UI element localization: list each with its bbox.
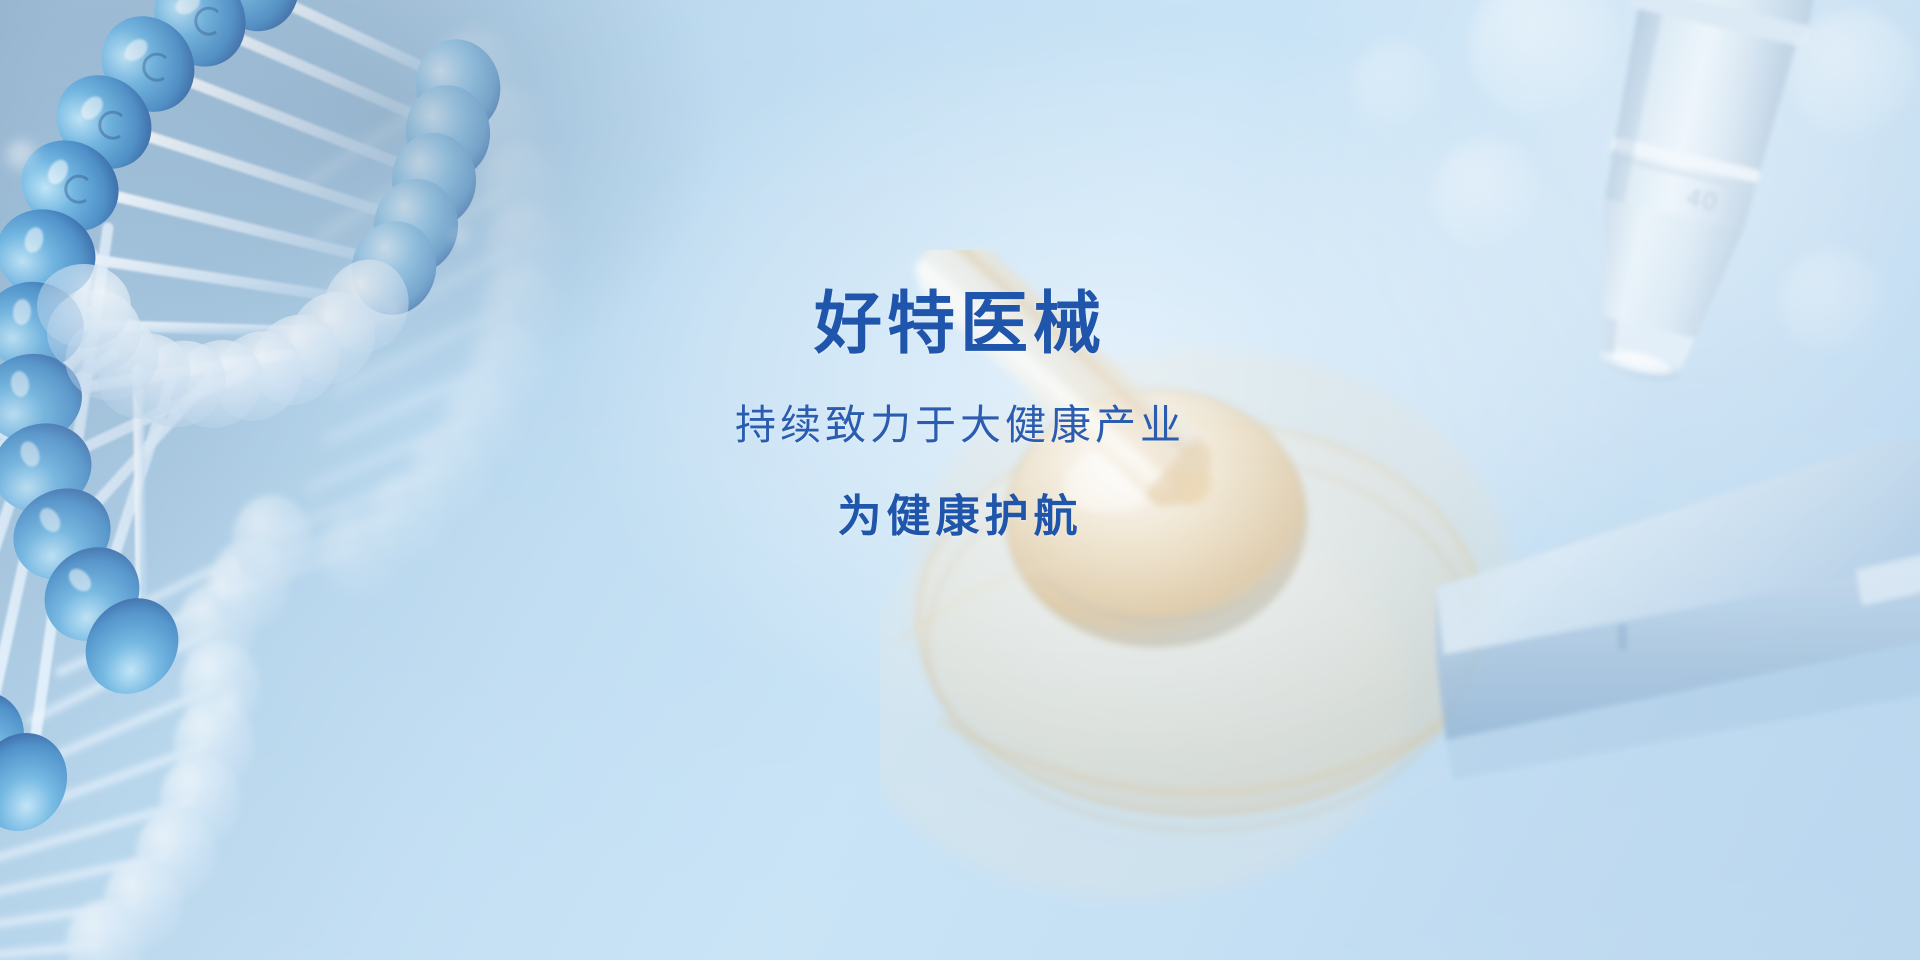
bokeh-highlight [218,690,244,716]
page-title: 好特医械 [0,290,1920,358]
bokeh-highlight [452,228,470,246]
bokeh-highlight [1790,10,1920,140]
bokeh-highlight [206,570,236,600]
bokeh-highlight [1432,140,1542,250]
bokeh-highlight [6,140,40,174]
bokeh-highlight [1350,40,1442,132]
hero-tagline: 持续致力于大健康产业 [0,405,1920,446]
hero-banner: 40 [0,0,1920,960]
hero-copy: 好特医械 持续致力于大健康产业 为健康护航 [0,290,1920,539]
hero-slogan: 为健康护航 [0,495,1920,539]
